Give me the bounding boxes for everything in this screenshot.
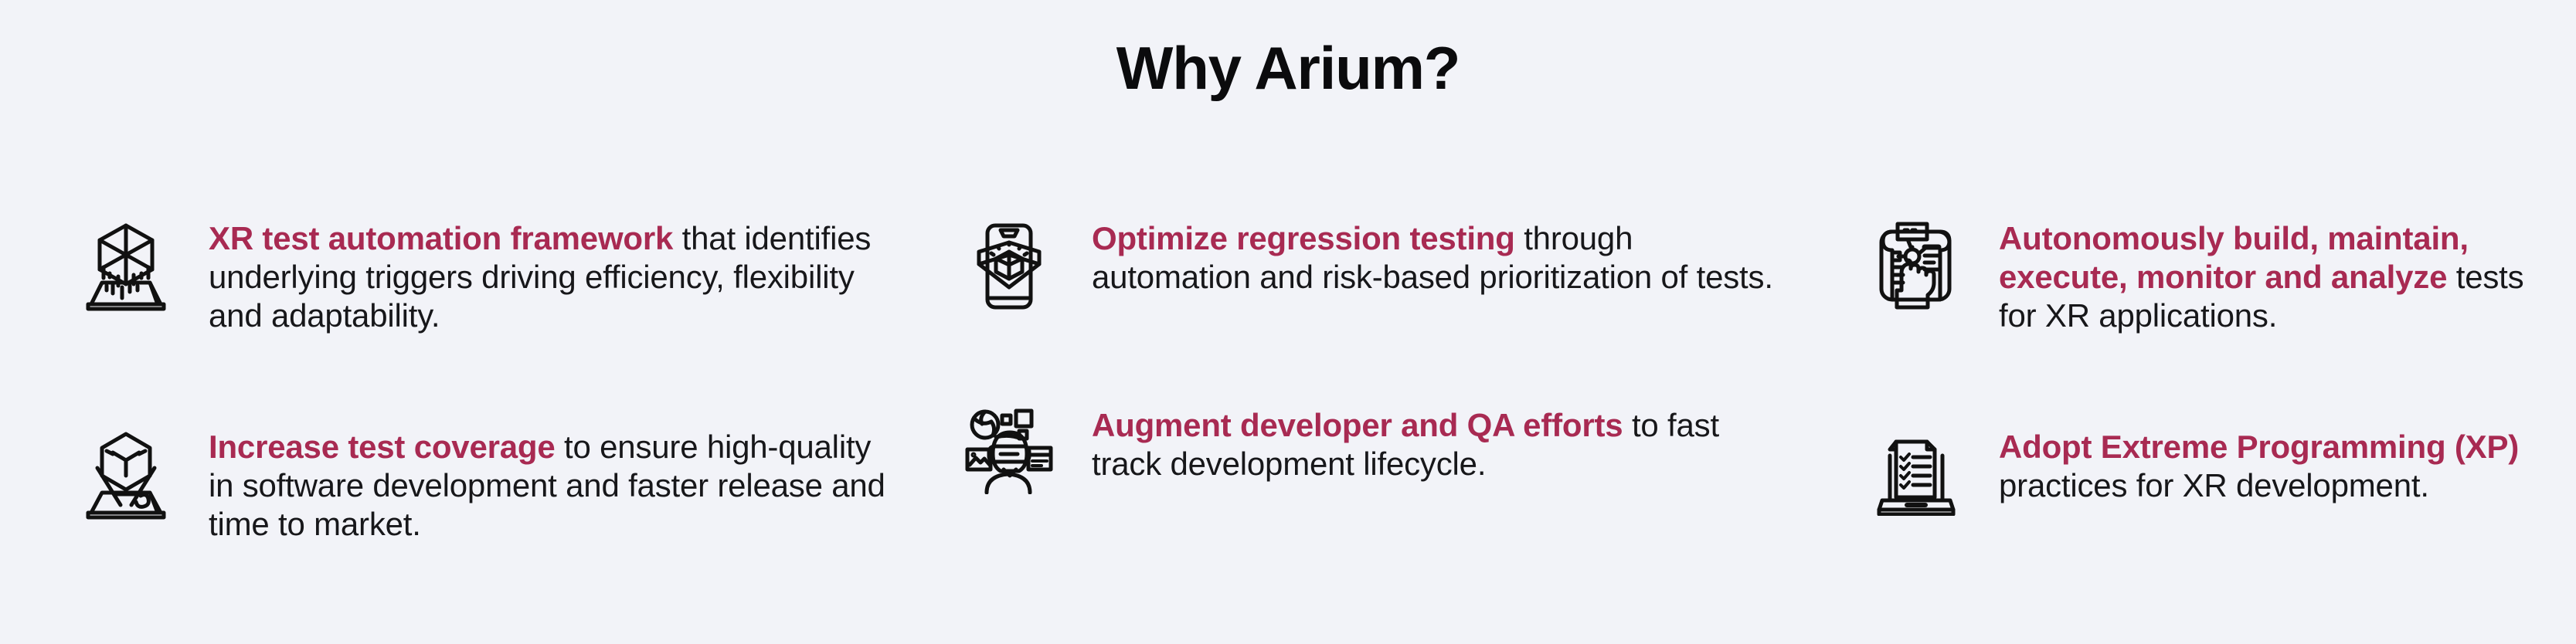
feature-lead: Increase test coverage <box>209 429 556 465</box>
feature-text: XR test automation framework that identi… <box>209 218 899 335</box>
feature-item: Increase test coverage to ensure high-qu… <box>80 426 899 544</box>
feature-text: Adopt Extreme Programming (XP) practices… <box>1999 426 2566 505</box>
feature-item: Adopt Extreme Programming (XP) practices… <box>1871 426 2566 522</box>
feature-item: Autonomously build, maintain, execute, m… <box>1871 218 2566 335</box>
feature-column-1: XR test automation framework that identi… <box>80 218 899 544</box>
feature-text: Augment developer and QA efforts to fast… <box>1092 405 1782 483</box>
feature-lead: Optimize regression testing <box>1092 220 1515 256</box>
laptop-checklist-icon <box>1871 426 1962 522</box>
vr-headset-user-icon <box>963 405 1055 500</box>
feature-text: Optimize regression testing through auto… <box>1092 218 1782 297</box>
feature-item: Augment developer and QA efforts to fast… <box>963 405 1782 500</box>
hologram-cube-scanner-icon <box>80 426 172 522</box>
feature-column-2: Optimize regression testing through auto… <box>963 218 1782 500</box>
feature-lead: Autonomously build, maintain, execute, m… <box>1999 220 2469 295</box>
feature-lead: Augment developer and QA efforts <box>1092 407 1623 443</box>
hologram-cube-projector-icon <box>80 218 172 314</box>
hand-flowchart-automation-icon <box>1871 218 1962 314</box>
feature-text: Autonomously build, maintain, execute, m… <box>1999 218 2566 335</box>
feature-lead: XR test automation framework <box>209 220 673 256</box>
mobile-ar-cube-icon <box>963 218 1055 314</box>
why-arium-section: Why Arium? <box>0 0 2576 644</box>
feature-lead: Adopt Extreme Programming (XP) <box>1999 429 2519 465</box>
page-title: Why Arium? <box>0 37 2576 100</box>
feature-item: XR test automation framework that identi… <box>80 218 899 335</box>
feature-text: Increase test coverage to ensure high-qu… <box>209 426 899 544</box>
feature-column-3: Autonomously build, maintain, execute, m… <box>1871 218 2566 522</box>
feature-body: practices for XR development. <box>1999 467 2429 503</box>
feature-item: Optimize regression testing through auto… <box>963 218 1782 314</box>
